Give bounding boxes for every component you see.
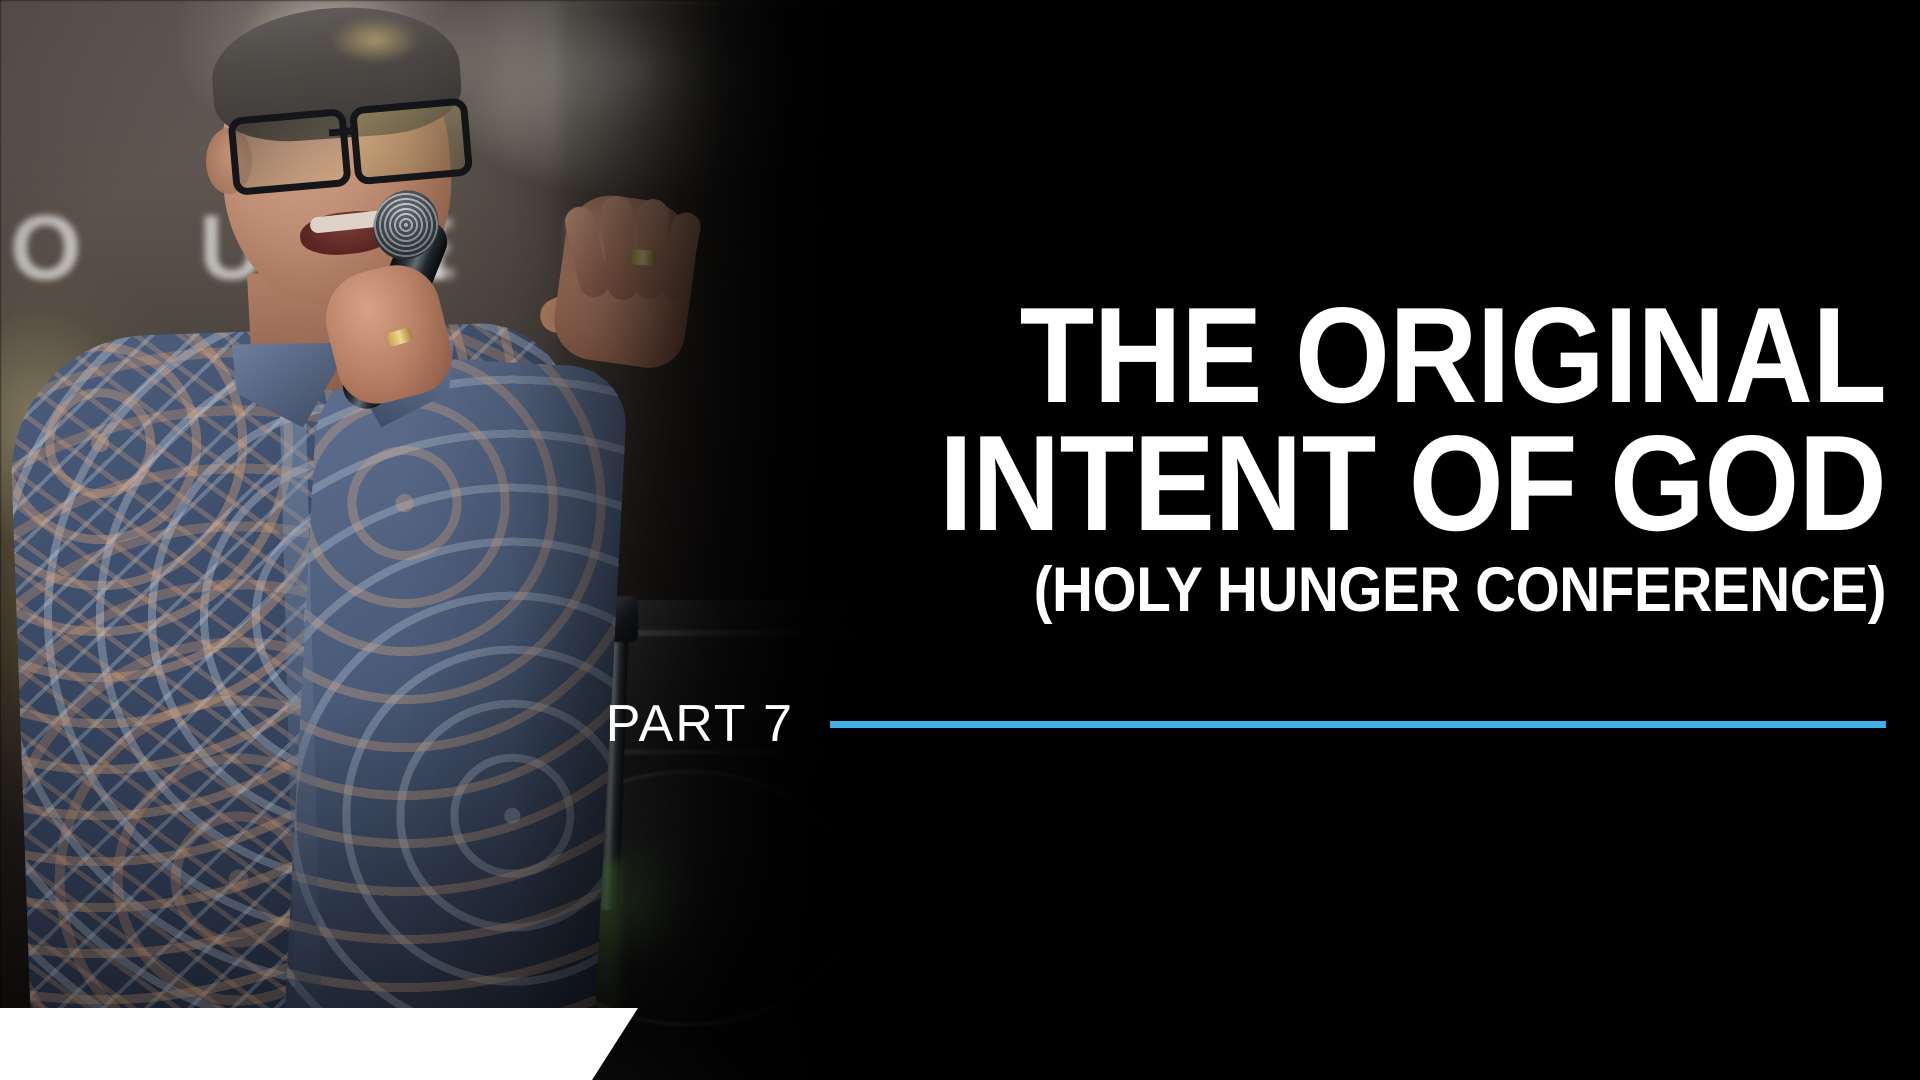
finger-ring-right bbox=[630, 249, 657, 266]
hair-highlight bbox=[330, 16, 420, 64]
part-row: PART 7 bbox=[586, 694, 1886, 754]
slide-stage: O U N E R bbox=[0, 0, 1920, 1080]
accent-rule bbox=[830, 721, 1886, 728]
part-label: PART 7 bbox=[606, 694, 794, 754]
title-subtitle: (HOLY HUNGER CONFERENCE) bbox=[716, 559, 1886, 622]
eyeglass-lens-left bbox=[227, 108, 351, 196]
eyeglass-lens-right bbox=[349, 97, 473, 185]
title-block: THE ORIGINAL INTENT OF GOD (HOLY HUNGER … bbox=[586, 296, 1886, 622]
sunday-service-label: SUNDAY SERVICE bbox=[40, 1015, 562, 1073]
sunday-service-banner: SUNDAY SERVICE bbox=[0, 1008, 672, 1080]
title-line-1: THE ORIGINAL bbox=[716, 296, 1886, 416]
title-line-2: INTENT OF GOD bbox=[716, 424, 1886, 544]
